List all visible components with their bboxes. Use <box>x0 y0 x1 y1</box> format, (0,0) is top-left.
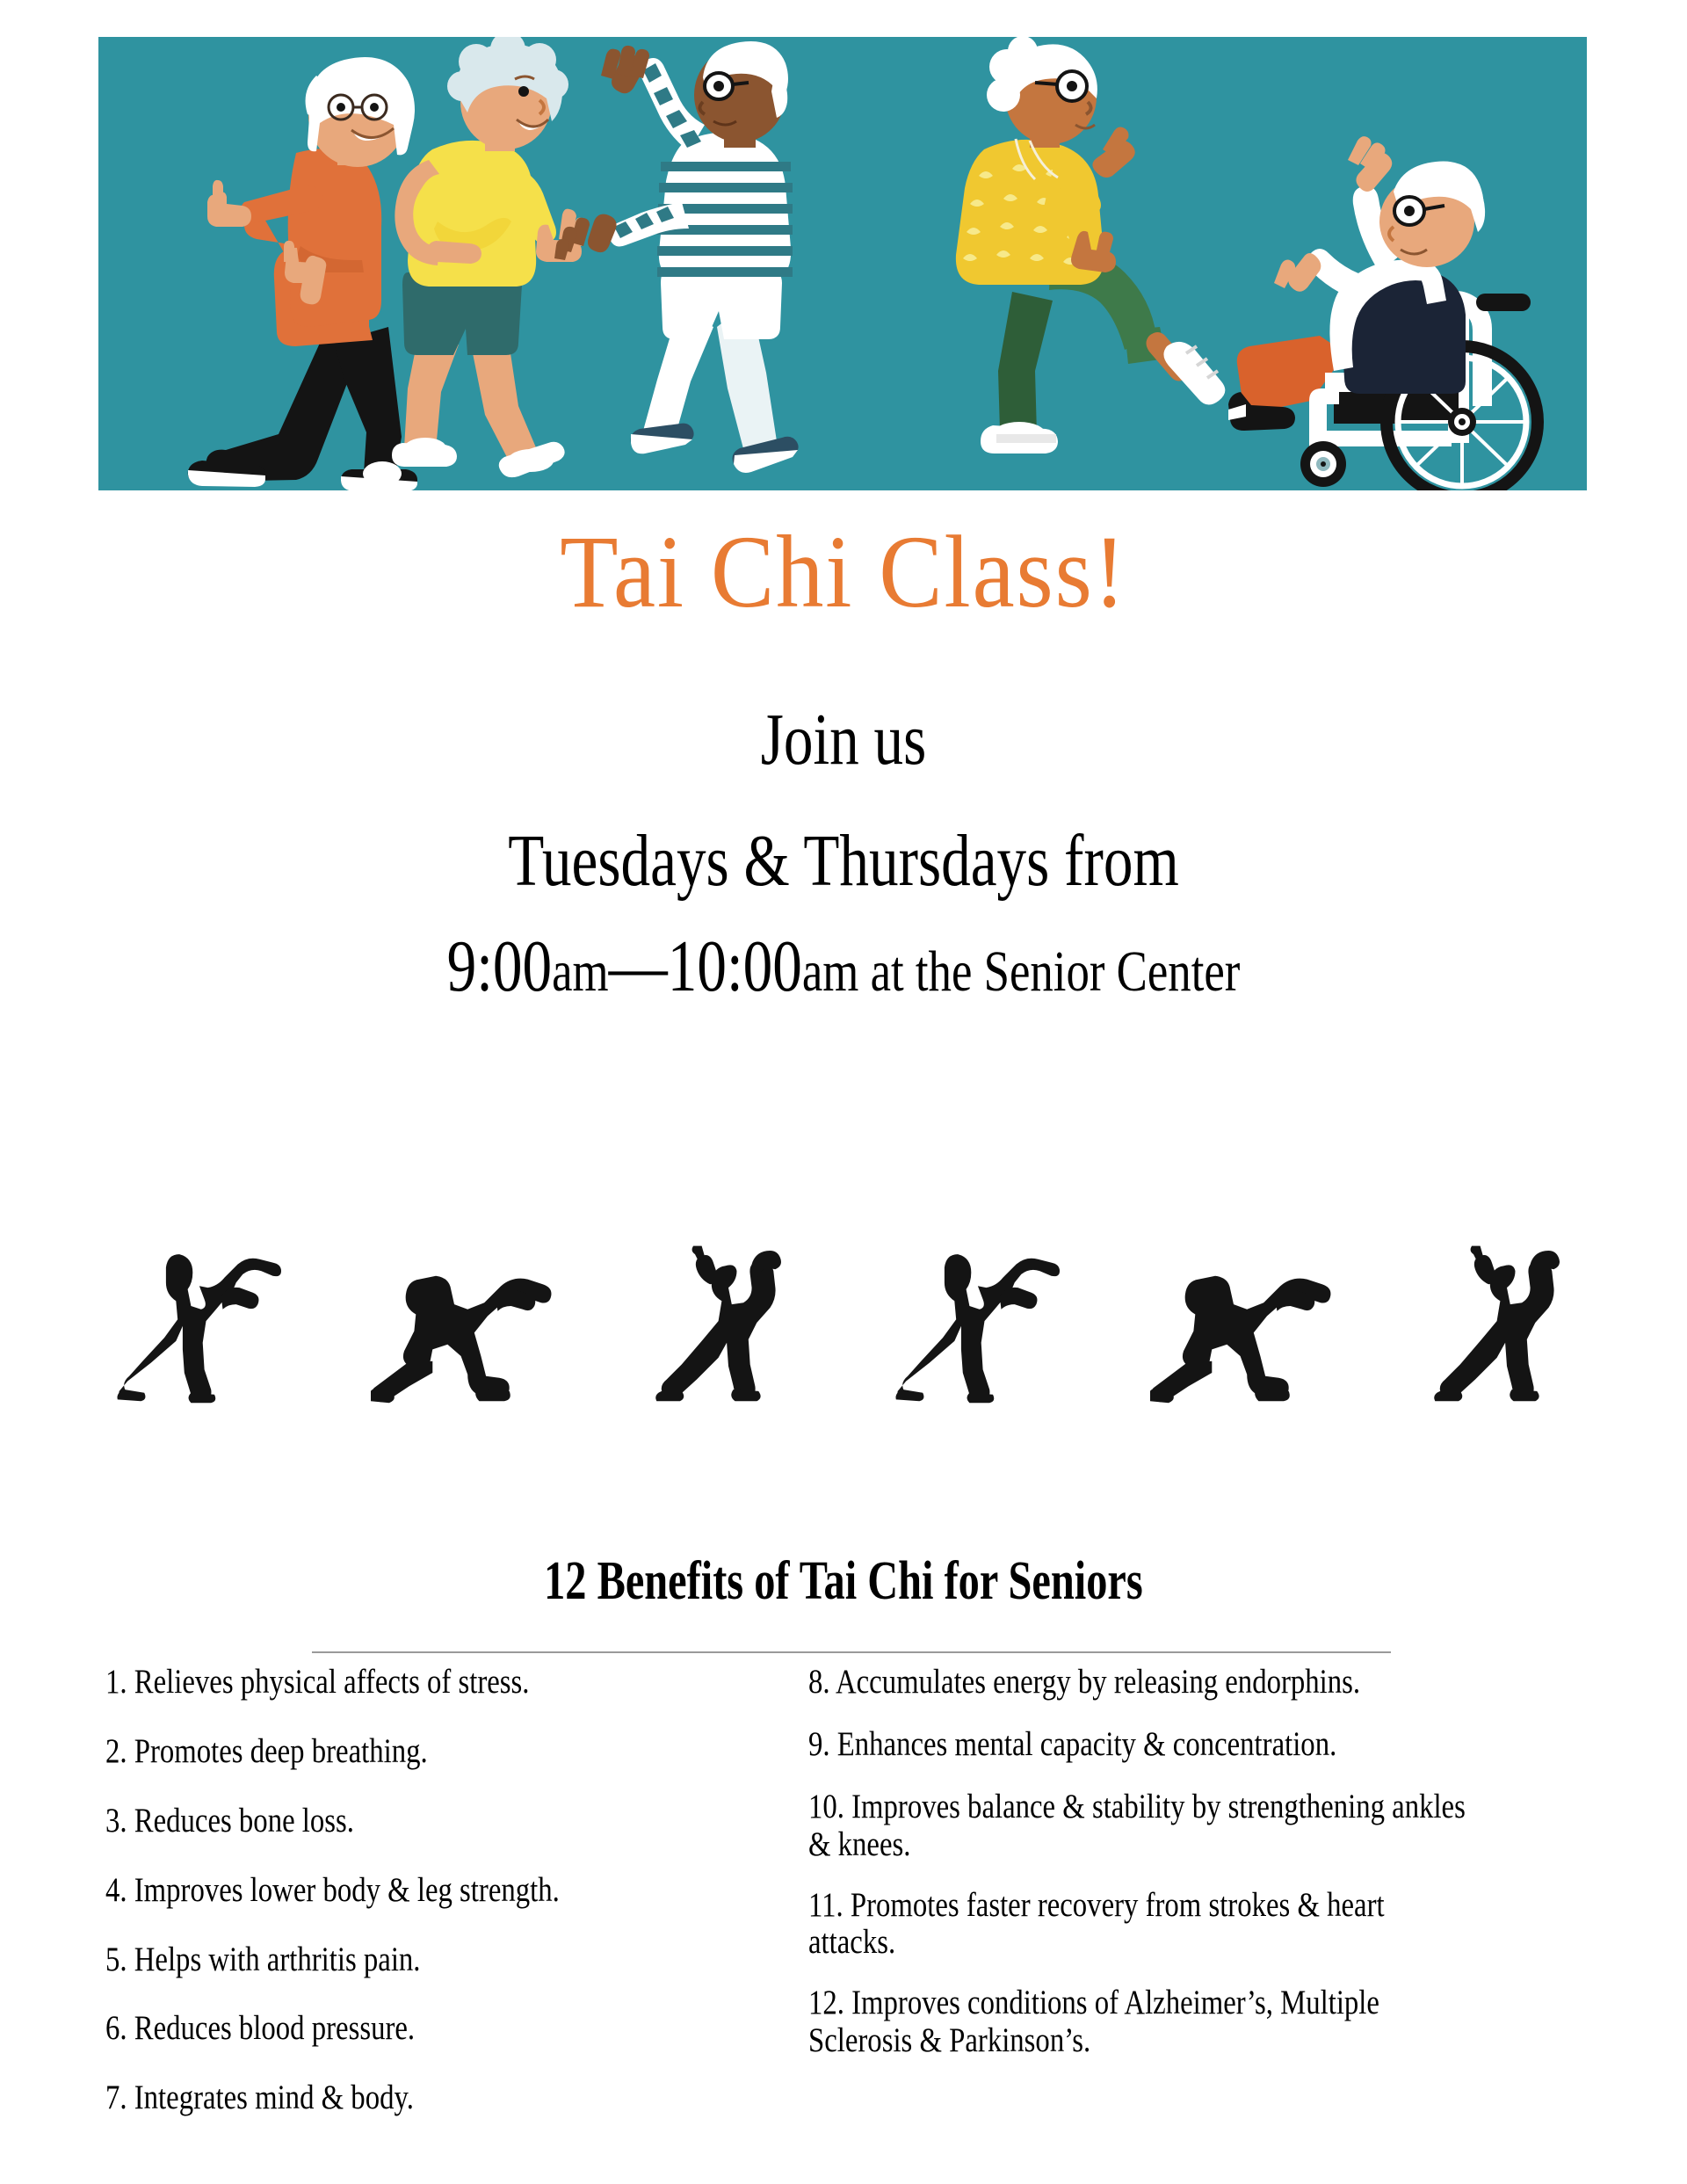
days-line: Tuesdays & Thursdays from <box>169 824 1518 898</box>
list-item: 2. Promotes deep breathing. <box>105 1733 666 1771</box>
silhouette-raised-arms-2 <box>1423 1239 1590 1406</box>
time-am-second-location: am at the Senior Center <box>802 940 1241 1004</box>
benefits-column-left: 1. Relieves physical affects of stress. … <box>0 1664 791 2156</box>
list-item: 1. Relieves physical affects of stress. <box>105 1664 666 1701</box>
benefits-heading-underline <box>312 1651 1391 1653</box>
event-details: Join us Tuesdays & Thursdays from 9:00am… <box>0 703 1687 1004</box>
low-crouch-icon <box>371 1239 563 1406</box>
time-location-line: 9:00am—10:00am at the Senior Center <box>169 930 1518 1004</box>
list-item: 5. Helps with arthritis pain. <box>105 1941 666 1979</box>
benefits-column-right: 8. Accumulates energy by releasing endor… <box>791 1664 1687 2156</box>
silhouette-low-crouch-2 <box>1150 1239 1343 1406</box>
list-item: 6. Reduces blood pressure. <box>105 2010 666 2048</box>
benefits-heading-text: 12 Benefits of Tai Chi for Seniors <box>544 1554 1143 1608</box>
time-am-first: am <box>552 940 609 1004</box>
list-item: 3. Reduces bone loss. <box>105 1803 666 1840</box>
benefits-list: 1. Relieves physical affects of stress. … <box>0 1664 1687 2156</box>
list-item: 11. Promotes faster recovery from stroke… <box>808 1887 1473 1963</box>
list-item: 7. Integrates mind & body. <box>105 2079 666 2117</box>
hero-banner-illustration <box>98 37 1587 490</box>
lunge-push-icon <box>893 1239 1068 1406</box>
page-title: Tai Chi Class! <box>68 520 1619 624</box>
silhouette-lunge-push-2 <box>893 1239 1068 1406</box>
raised-arms-lunge-icon <box>1423 1239 1590 1406</box>
silhouette-lunge-push-1 <box>114 1239 290 1406</box>
list-item: 9. Enhances mental capacity & concentrat… <box>808 1726 1473 1764</box>
join-us-line: Join us <box>169 703 1518 777</box>
silhouette-raised-arms-1 <box>645 1239 812 1406</box>
time-end: —10:00 <box>609 925 802 1007</box>
list-item: 4. Improves lower body & leg strength. <box>105 1872 666 1910</box>
benefits-heading: 12 Benefits of Tai Chi for Seniors <box>0 1554 1687 1608</box>
list-item: 8. Accumulates energy by releasing endor… <box>808 1664 1473 1701</box>
list-item: 10. Improves balance & stability by stre… <box>808 1789 1473 1864</box>
raised-arms-lunge-icon <box>645 1239 812 1406</box>
list-item: 12. Improves conditions of Alzheimer’s, … <box>808 1984 1473 2060</box>
seniors-tai-chi-illustration <box>98 37 1587 490</box>
low-crouch-icon <box>1150 1239 1343 1406</box>
time-start: 9:00 <box>447 925 552 1007</box>
tai-chi-silhouette-row <box>114 1204 1590 1406</box>
lunge-push-icon <box>114 1239 290 1406</box>
silhouette-low-crouch-1 <box>371 1239 563 1406</box>
